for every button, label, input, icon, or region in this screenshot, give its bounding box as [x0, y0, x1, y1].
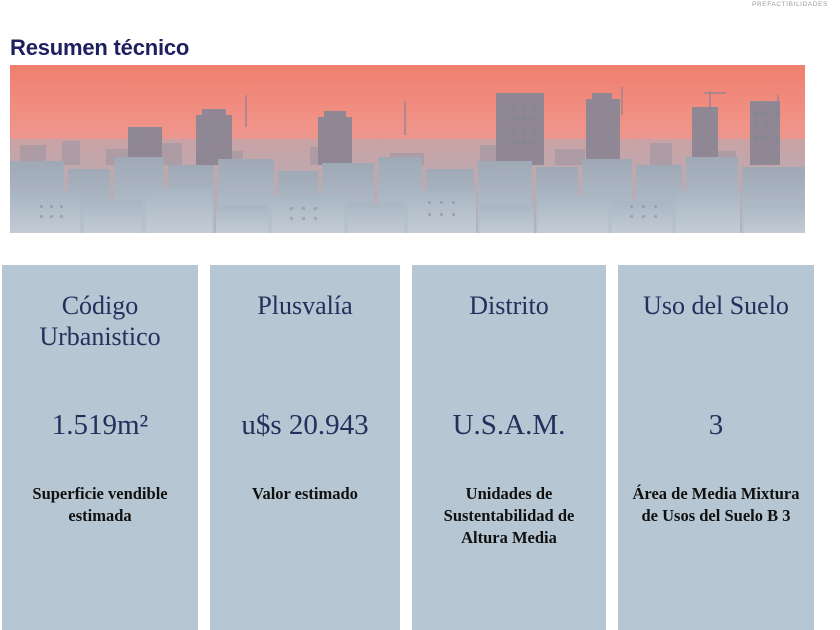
card-title: Distrito	[469, 291, 548, 322]
summary-card-codigo-urbanistico: Código Urbanistico 1.519m² Superficie ve…	[2, 265, 198, 630]
hero-city-photo	[10, 65, 805, 233]
card-value: 3	[709, 410, 724, 442]
summary-card-uso-del-suelo: Uso del Suelo 3 Área de Media Mixtura de…	[618, 265, 814, 630]
card-title: Plusvalía	[257, 291, 352, 322]
card-value: u$s 20.943	[241, 410, 368, 442]
summary-cards-row: Código Urbanistico 1.519m² Superficie ve…	[0, 265, 840, 630]
card-value: U.S.A.M.	[453, 410, 566, 442]
card-description: Superficie vendible estimada	[10, 483, 190, 527]
card-description: Área de Media Mixtura de Usos del Suelo …	[626, 483, 806, 527]
card-title: Uso del Suelo	[643, 291, 789, 322]
summary-card-distrito: Distrito U.S.A.M. Unidades de Sustentabi…	[412, 265, 606, 630]
card-title: Código Urbanistico	[10, 291, 190, 352]
card-description: Valor estimado	[252, 483, 358, 505]
card-value: 1.519m²	[52, 410, 149, 442]
skyline-illustration	[10, 65, 805, 233]
card-description: Unidades de Sustentabilidad de Altura Me…	[420, 483, 598, 548]
page-title: Resumen técnico	[10, 35, 189, 61]
brand-tag: PREFACTIBILIDADES	[752, 1, 828, 8]
summary-card-plusvalia: Plusvalía u$s 20.943 Valor estimado	[210, 265, 400, 630]
